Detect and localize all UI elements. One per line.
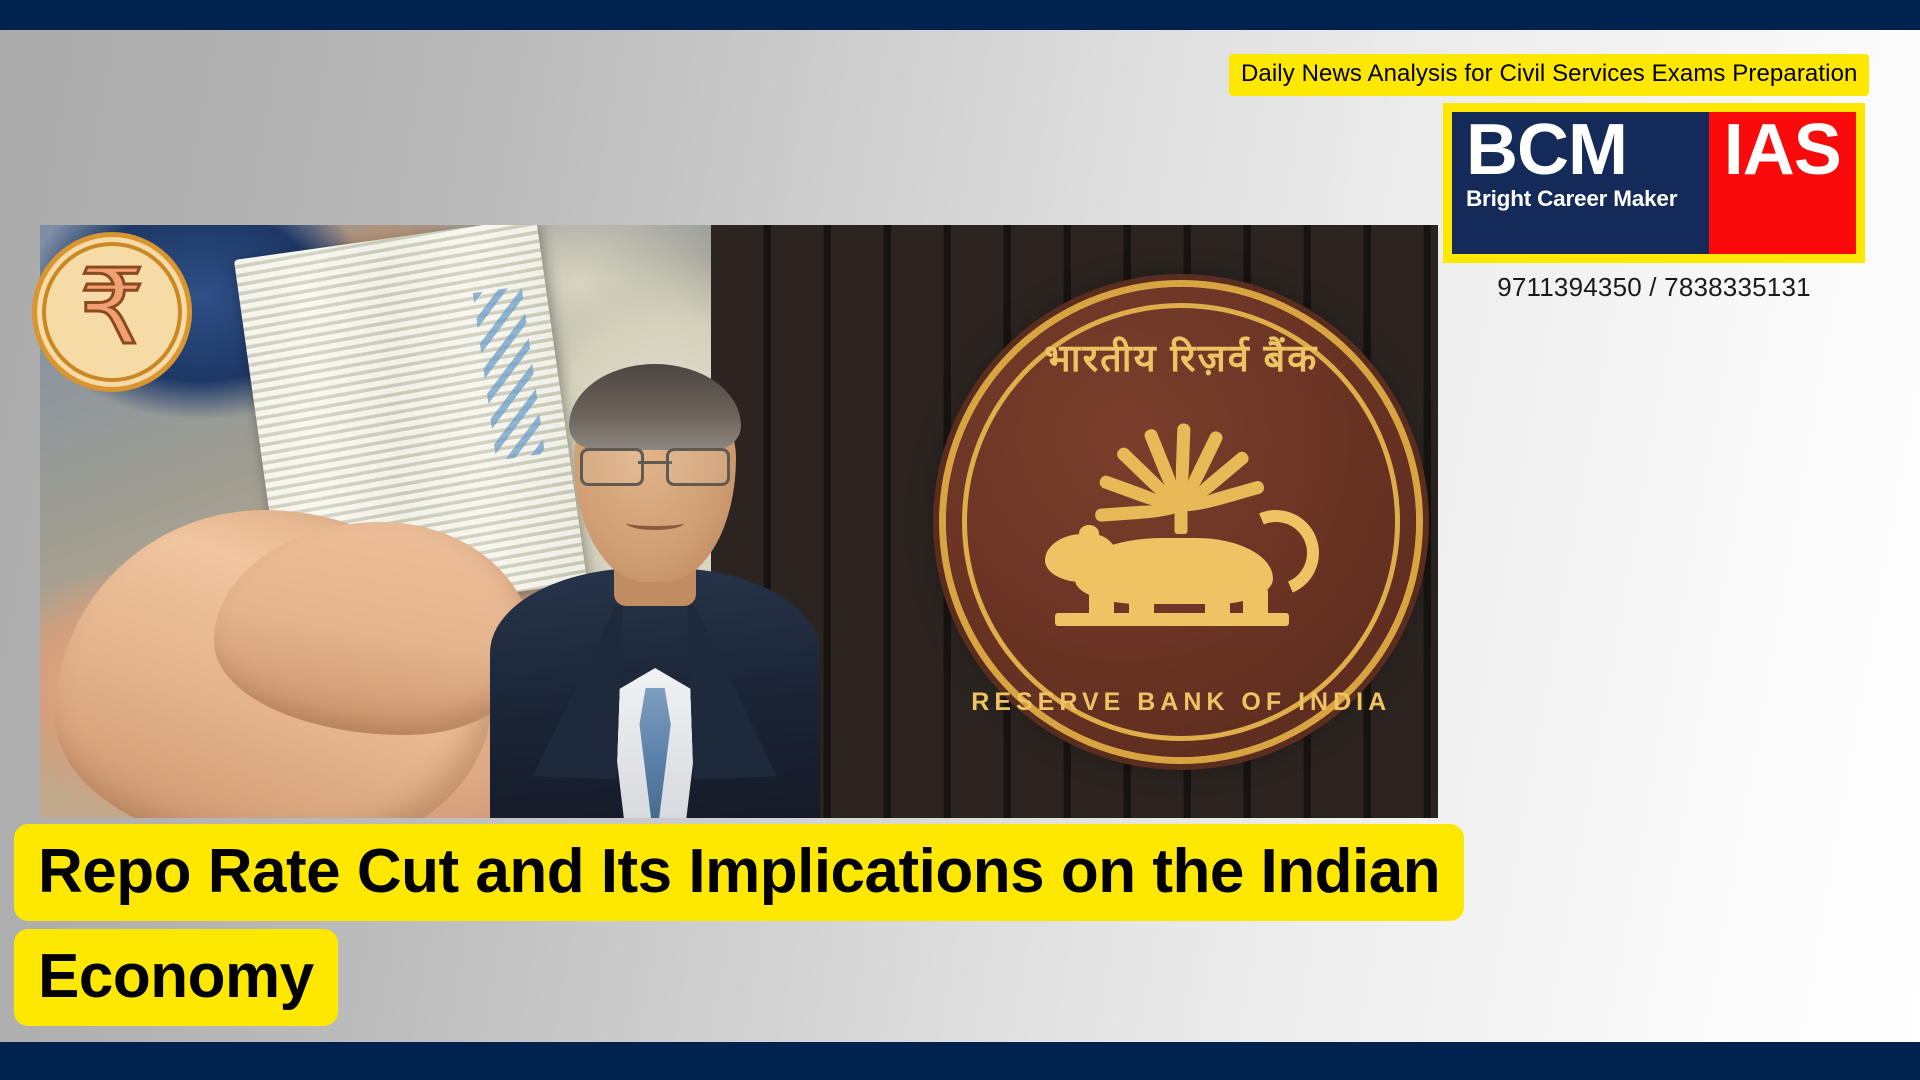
- rbi-english-text: RESERVE BANK OF INDIA: [946, 688, 1416, 717]
- rbi-tiger-palm-emblem: [1031, 406, 1331, 656]
- portrait-glasses-icon: [580, 448, 730, 482]
- headline-banner: Repo Rate Cut and Its Implications on th…: [14, 824, 1634, 1026]
- portrait-mouth: [626, 516, 684, 530]
- bottom-navy-bar: [0, 1042, 1920, 1080]
- logo-inner: BCM Bright Career Maker IAS: [1452, 112, 1856, 254]
- palm-tree-icon: [1086, 406, 1276, 516]
- top-navy-bar: [0, 0, 1920, 30]
- rupee-symbol: ₹: [79, 256, 145, 360]
- hero-image-composite: भारतीय रिज़र्व बैंक: [40, 225, 1438, 818]
- rupee-coin-icon: ₹: [32, 232, 192, 392]
- glasses-lens-right: [666, 448, 730, 486]
- logo-ias-text: IAS: [1724, 116, 1841, 186]
- logo-red-panel: IAS: [1709, 112, 1856, 254]
- tiger-ear: [1079, 525, 1099, 542]
- tiger-plinth: [1055, 613, 1289, 626]
- contact-phone-numbers: 9711394350 / 7838335131: [1443, 272, 1865, 303]
- logo-navy-panel: BCM Bright Career Maker: [1452, 112, 1709, 254]
- logo-bcm-text: BCM: [1466, 116, 1709, 186]
- rbi-hindi-text: भारतीय रिज़र्व बैंक: [946, 331, 1416, 383]
- headline-line-1: Repo Rate Cut and Its Implications on th…: [14, 824, 1464, 921]
- rbi-governor-portrait: [490, 313, 820, 818]
- bcm-ias-logo: BCM Bright Career Maker IAS: [1443, 103, 1865, 263]
- headline-line-2: Economy: [14, 929, 338, 1026]
- portrait-hair: [569, 364, 741, 450]
- slide-canvas: Daily News Analysis for Civil Services E…: [0, 0, 1920, 1080]
- daily-news-tagline-badge: Daily News Analysis for Civil Services E…: [1229, 54, 1869, 96]
- glasses-lens-left: [580, 448, 644, 486]
- logo-tagline-text: Bright Career Maker: [1466, 188, 1709, 211]
- tiger-icon: [1037, 514, 1319, 626]
- rbi-emblem-seal: भारतीय रिज़र्व बैंक: [946, 287, 1416, 757]
